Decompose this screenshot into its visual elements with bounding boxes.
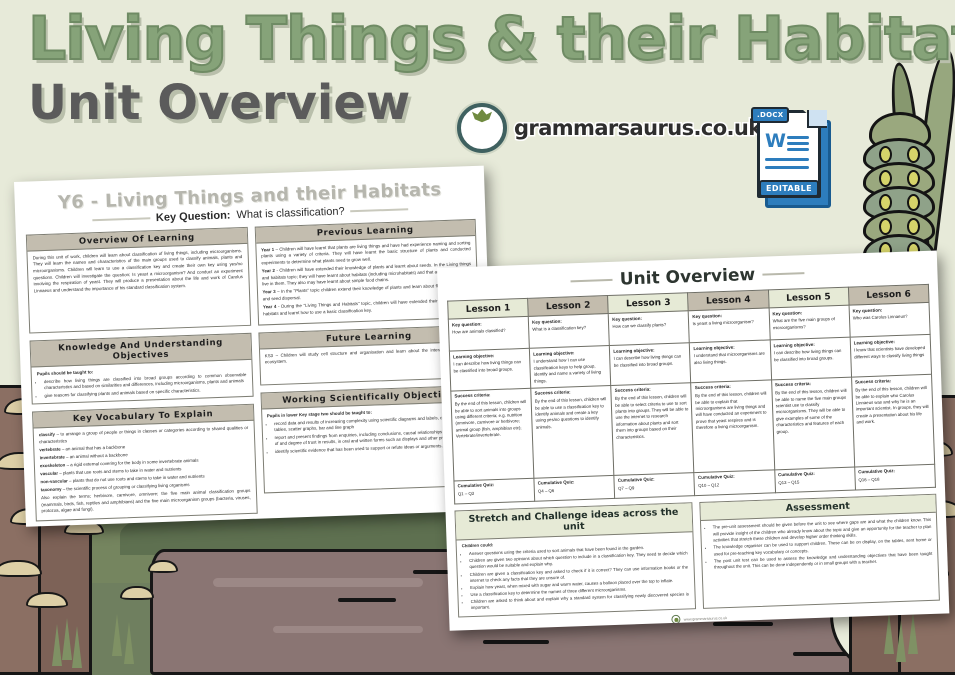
overview-body: During this unit of work, children will … (33, 248, 244, 295)
table-cell: Success criteria:By the end of this less… (771, 377, 854, 470)
cell-value: By the end of this lesson, children will… (855, 385, 928, 425)
cell-value: How can we classify plants? (612, 322, 666, 329)
cell-value: How are animals classified? (452, 328, 505, 335)
row-label: Cumulative Quiz: (618, 475, 691, 484)
grass-tuft-icon (908, 612, 918, 654)
left-column: Overview Of Learning During this unit of… (26, 227, 257, 522)
table-cell: Success criteria:By the end of this less… (531, 385, 614, 478)
bottom-boxes-row: Stretch and Challenge ideas across the u… (454, 493, 939, 617)
mushroom-icon (0, 560, 38, 582)
mushroom-icon (26, 592, 64, 612)
mushroom-icon (120, 586, 150, 603)
rule-left (571, 279, 613, 282)
cell-value: By the end of this lesson, children will… (455, 399, 527, 439)
table-cell: Success criteria:By the end of this less… (451, 388, 534, 481)
cell-value: I can describe how living things can be … (453, 360, 521, 374)
table-cell: Cumulative Quiz:Q1 – Q3 (454, 478, 535, 504)
table-cell: Learning objective:I understand how I ca… (530, 346, 611, 388)
grass-tuft-icon (62, 618, 72, 660)
word-w-mark: W (765, 132, 786, 151)
cell-value: What is a classification key? (532, 325, 586, 332)
assessment-bullets: The pre-unit assessment should be given … (706, 517, 933, 571)
cell-value: I understand how I can use classificatio… (533, 357, 601, 383)
grass-tuft-icon (884, 612, 894, 654)
cell-value: Q4 – Q6 (538, 488, 554, 494)
cell-value: By the end of this lesson, children will… (775, 388, 847, 434)
table-cell: Learning objective:I can describe how li… (610, 343, 691, 385)
cell-value: Q13 – Q15 (778, 480, 799, 486)
cell-value: By the end of this lesson, children will… (535, 396, 607, 429)
row-label: Cumulative Quiz: (698, 473, 771, 482)
brand-logo[interactable]: G grammarsaurus.co.uk (457, 103, 762, 153)
brand-letter: G (475, 125, 488, 144)
poster-canvas: Living Things & their Habitats Unit Over… (0, 0, 955, 675)
table-cell: Cumulative Quiz:Q13 – Q15 (774, 467, 855, 493)
brand-name: grammarsaurus.co.uk (514, 116, 762, 140)
dino-head-shape (472, 109, 492, 126)
table-cell: Key question:What are the five main grou… (769, 305, 850, 340)
row-label: Cumulative Quiz: (538, 478, 611, 487)
cell-value: By the end of this lesson, children will… (695, 391, 767, 431)
table-cell: Learning objective:I can describe how li… (770, 337, 851, 379)
docx-format-tag: .DOCX (751, 107, 789, 123)
unit-overview-document[interactable]: Unit Overview Lesson 1 Lesson 2 Lesson 3… (437, 251, 949, 631)
cell-value: Q1 – Q3 (458, 491, 474, 497)
stretch-intro: Children could: (462, 542, 494, 548)
stretch-challenge-box: Stretch and Challenge ideas across the u… (454, 502, 695, 618)
stretch-bullets: Answer questions using the criteria used… (462, 543, 689, 612)
cell-value: I can describe how living things can be … (774, 348, 842, 362)
knowledge-intro: Pupils should be taught to: (37, 369, 94, 376)
grammarsaurus-mini-icon (672, 615, 681, 624)
page-title: Living Things & their Habitats (28, 8, 955, 70)
key-question-text: What is classification? (236, 205, 345, 221)
table-cell: Cumulative Quiz:Q10 – Q12 (694, 470, 775, 496)
row-label: Cumulative Quiz: (458, 481, 531, 490)
row-label: Key question: (532, 317, 605, 326)
docx-corner-fold (807, 110, 827, 128)
grass-tuft-icon (896, 620, 906, 662)
row-label: Key question: (452, 319, 525, 328)
working-sci-intro: Pupils in lower Key stage two should be … (267, 409, 372, 418)
key-question-label: Key Question: (156, 209, 231, 224)
key-vocabulary-box: Key Vocabulary To Explain classify – to … (32, 404, 257, 521)
cell-value: Who was Carolus Linnaeus? (853, 314, 908, 321)
cell-value: What are the five main groups of microor… (773, 317, 835, 331)
cell-value: I know that scientists have developed di… (854, 345, 925, 359)
grass-tuft-icon (72, 626, 82, 668)
grass-tuft-icon (124, 622, 134, 664)
table-cell: Success criteria:By the end of this less… (611, 382, 694, 475)
rule-right (762, 272, 804, 275)
row-label: Key question: (612, 314, 685, 323)
overview-of-learning-box: Overview Of Learning During this unit of… (26, 227, 251, 334)
table-cell: Success criteria:By the end of this less… (691, 380, 774, 473)
table-cell: Key question:Is yeast a living microorga… (689, 308, 770, 343)
table-cell: Key question:Who was Carolus Linnaeus? (849, 302, 930, 337)
table-row-success-criteria: Success criteria:By the end of this less… (451, 374, 935, 481)
table-cell: Cumulative Quiz:Q7 – Q9 (614, 472, 695, 498)
table-cell: Key question:What is a classification ke… (528, 314, 609, 349)
table-cell: Key question:How can we classify plants? (609, 311, 690, 346)
rule-left (92, 217, 150, 221)
cell-value: I understand that microorganisms are als… (694, 351, 765, 365)
row-label: Cumulative Quiz: (858, 467, 931, 476)
cell-value: Q7 – Q9 (618, 485, 634, 491)
table-cell: Learning objective:I know that scientist… (850, 334, 932, 376)
cell-value: Is yeast a living microorganism? (692, 319, 753, 326)
lessons-table: Lesson 1 Lesson 2 Lesson 3 Lesson 4 Less… (447, 284, 936, 504)
row-label: Key question: (692, 311, 765, 320)
cell-value: I can describe how living things can be … (614, 354, 682, 368)
footer-url: www.grammarsaurus.co.uk (684, 616, 727, 622)
left-doc-columns: Overview Of Learning During this unit of… (26, 219, 486, 522)
table-cell: Learning objective:I can describe how li… (449, 348, 530, 390)
row-label: Key question: (852, 305, 925, 314)
grammarsaurus-dino-icon: G (457, 103, 507, 153)
assessment-box: Assessment The pre-unit assessment shoul… (699, 493, 940, 609)
docx-editable-badge: W .DOCX EDITABLE (757, 110, 827, 202)
unit-plan-document[interactable]: Y6 - Living Things and their Habitats Ke… (14, 166, 496, 527)
table-cell: Learning objective:I understand that mic… (690, 340, 771, 382)
grass-tuft-icon (112, 614, 122, 656)
table-cell: Cumulative Quiz:Q16 – Q18 (854, 464, 935, 490)
row-label: Learning objective: (533, 349, 606, 358)
knowledge-objectives-box: Knowledge And Understanding Objectives P… (30, 333, 254, 405)
unit-overview-title: Unit Overview (619, 265, 755, 290)
table-cell: Success criteria:By the end of this less… (851, 374, 934, 467)
cell-value: Q16 – Q18 (858, 477, 879, 483)
cell-value: Q10 – Q12 (698, 482, 719, 488)
table-cell: Key question:How are animals classified? (448, 316, 529, 351)
table-cell: Cumulative Quiz:Q4 – Q6 (534, 475, 615, 501)
cell-value: By the end of this lesson, children will… (615, 394, 689, 440)
grass-tuft-icon (52, 624, 62, 666)
row-label: Cumulative Quiz: (778, 470, 851, 479)
docx-editable-tag: EDITABLE (759, 180, 819, 197)
mushroom-icon (148, 560, 174, 575)
rule-right (351, 208, 409, 212)
